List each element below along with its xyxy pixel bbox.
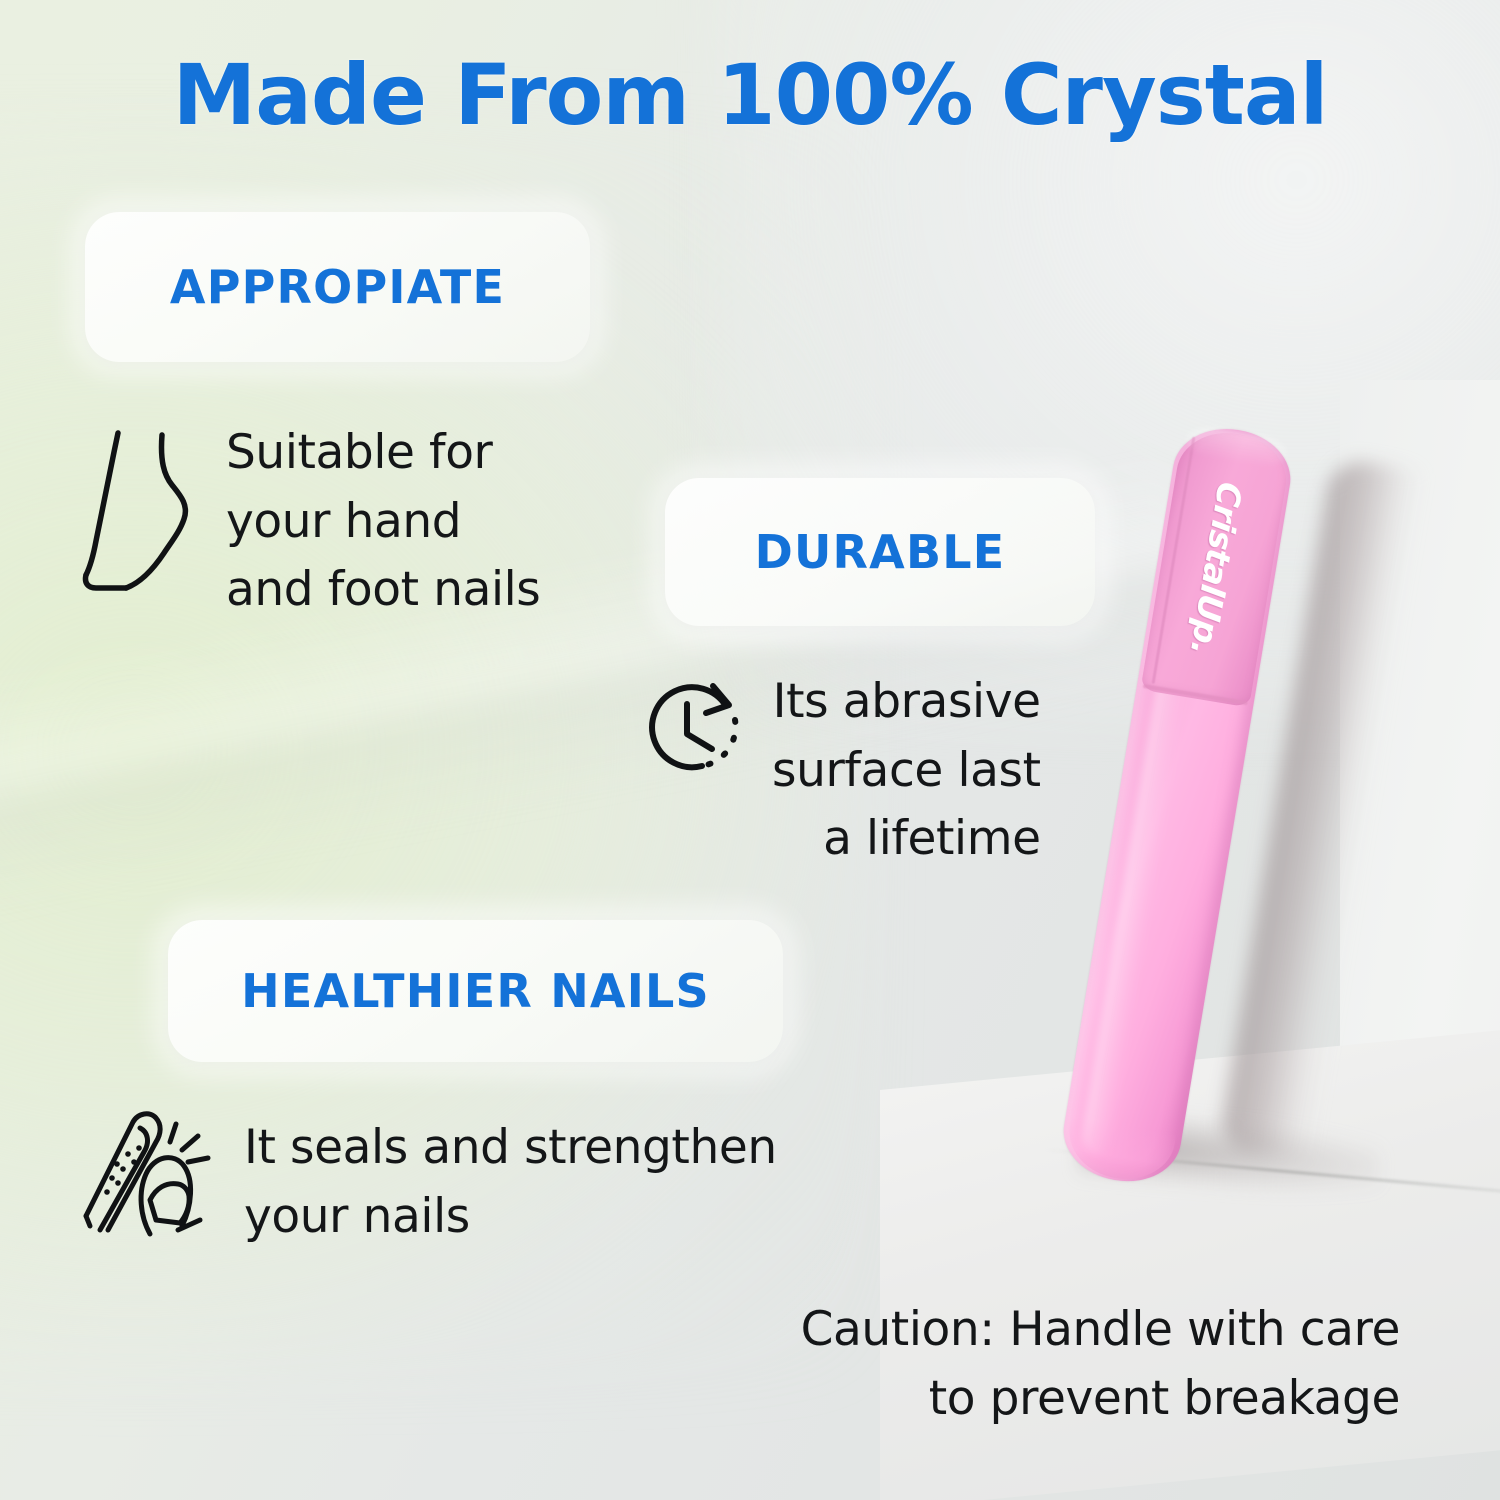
feature-line: It seals and strengthen: [244, 1114, 777, 1183]
clock-icon: [640, 672, 750, 874]
feature-seals-text: It seals and strengthen your nails: [244, 1114, 777, 1251]
badge-appropiate: APPROPIATE: [85, 212, 590, 362]
badge-durable-label: DURABLE: [665, 525, 1095, 579]
foot-icon: [80, 425, 200, 625]
nail-file-icon: [78, 1108, 218, 1251]
caution-note: Caution: Handle with care to prevent bre…: [600, 1296, 1400, 1433]
feature-hand-foot: Suitable for your hand and foot nails: [80, 425, 540, 625]
product-infographic: CristalUp. Made From 100% Crystal APPROP…: [0, 0, 1500, 1500]
feature-line: your nails: [244, 1183, 777, 1252]
caution-line: to prevent breakage: [600, 1365, 1400, 1434]
feature-lifetime: Its abrasive surface last a lifetime: [640, 672, 1041, 874]
feature-line: a lifetime: [772, 805, 1041, 874]
feature-line: Its abrasive: [772, 668, 1041, 737]
feature-line: and foot nails: [226, 556, 540, 625]
page-title: Made From 100% Crystal: [0, 46, 1500, 144]
feature-line: surface last: [772, 737, 1041, 806]
feature-seals: It seals and strengthen your nails: [78, 1108, 777, 1251]
badge-appropiate-label: APPROPIATE: [85, 260, 590, 314]
feature-hand-foot-text: Suitable for your hand and foot nails: [226, 419, 540, 625]
caution-line: Caution: Handle with care: [600, 1296, 1400, 1365]
badge-healthier-nails-label: HEALTHIER NAILS: [168, 964, 783, 1018]
feature-line: Suitable for: [226, 419, 540, 488]
feature-line: your hand: [226, 488, 540, 557]
badge-durable: DURABLE: [665, 478, 1095, 626]
badge-healthier-nails: HEALTHIER NAILS: [168, 920, 783, 1062]
feature-lifetime-text: Its abrasive surface last a lifetime: [772, 668, 1041, 874]
